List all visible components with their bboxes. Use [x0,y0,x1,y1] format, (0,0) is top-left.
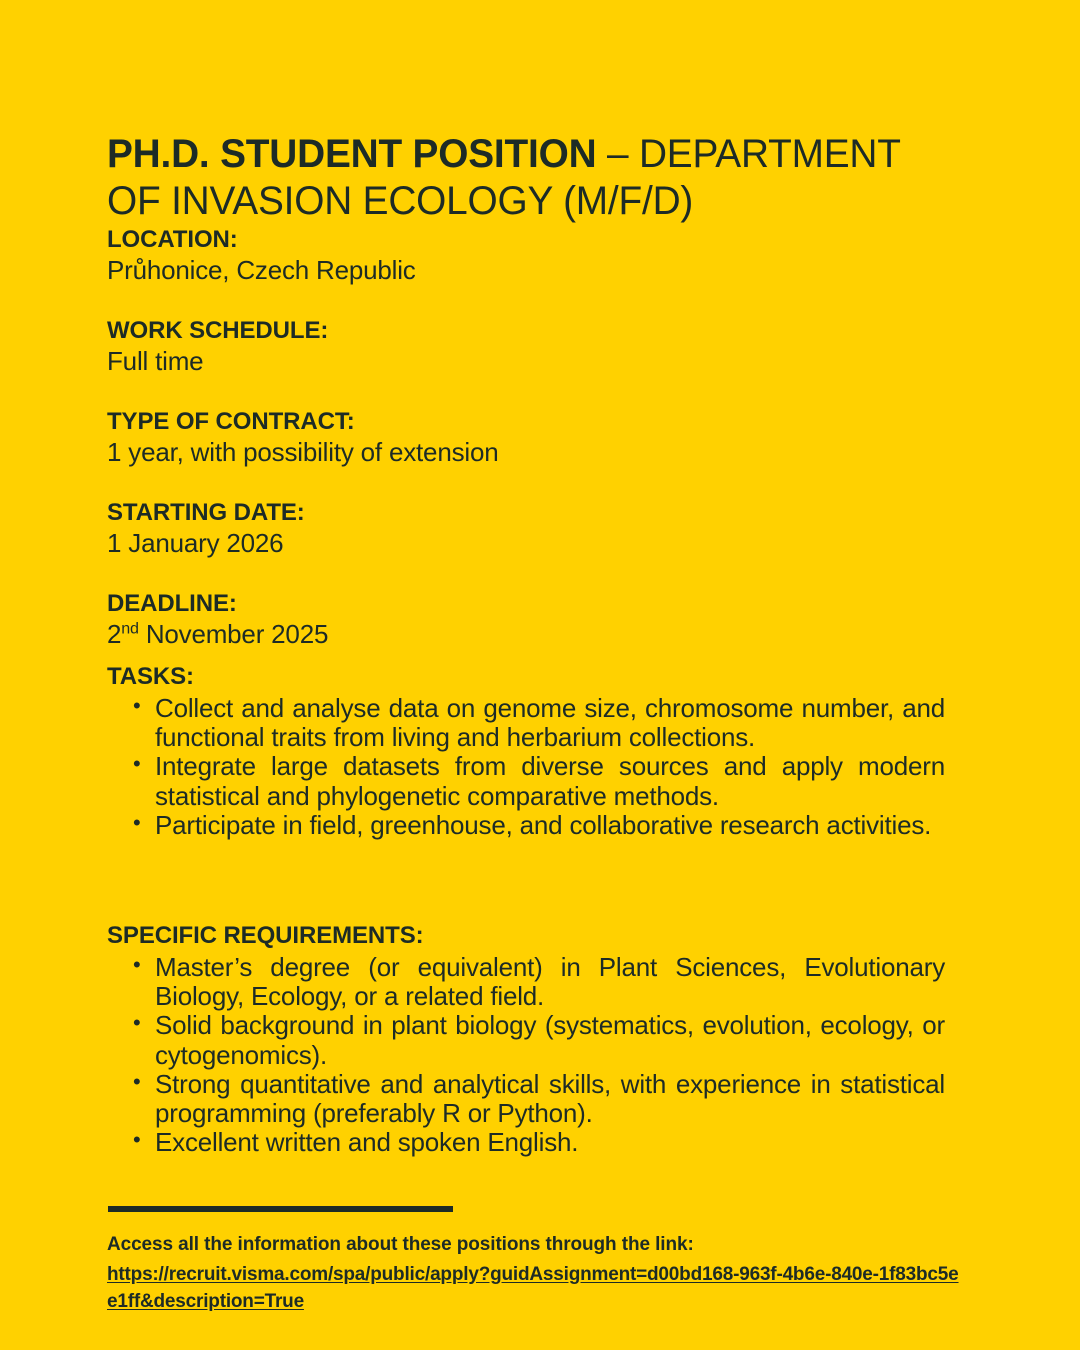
list-item: Master’s degree (or equivalent) in Plant… [155,953,945,1012]
list-item: Strong quantitative and analytical skill… [155,1070,945,1129]
field-location: LOCATION: Průhonice, Czech Republic [107,225,945,287]
field-starting-date: STARTING DATE: 1 January 2026 [107,498,945,560]
list-item-text: Solid background in plant biology (syste… [155,1011,945,1070]
field-value: 1 January 2026 [107,528,945,560]
field-type-of-contract: TYPE OF CONTRACT: 1 year, with possibili… [107,407,945,469]
list-item: Solid background in plant biology (syste… [155,1011,945,1070]
field-label: TYPE OF CONTRACT: [107,407,945,437]
list-item: Excellent written and spoken English. [155,1128,945,1157]
field-value: Full time [107,346,945,378]
section-specific-requirements: SPECIFIC REQUIREMENTS: Master’s degree (… [107,922,945,1158]
deadline-rest: November 2025 [139,619,328,649]
field-deadline: DEADLINE: 2nd November 2025 [107,589,945,651]
list-item: Participate in field, greenhouse, and co… [155,811,945,840]
field-label: WORK SCHEDULE: [107,316,945,346]
list-item-text: Collect and analyse data on genome size,… [155,694,945,753]
field-label: DEADLINE: [107,589,945,619]
list-item: Integrate large datasets from diverse so… [155,752,945,811]
page-title: PH.D. STUDENT POSITION – DEPARTMENT OF I… [107,131,949,225]
section-tasks: TASKS: Collect and analyse data on genom… [107,663,945,840]
footer-lead-text: Access all the information about these p… [107,1232,967,1258]
list-item-text: Participate in field, greenhouse, and co… [155,811,945,840]
field-list: LOCATION: Průhonice, Czech Republic WORK… [107,225,945,651]
field-label: STARTING DATE: [107,498,945,528]
field-value: Průhonice, Czech Republic [107,255,945,287]
list-item-text: Strong quantitative and analytical skill… [155,1070,945,1129]
list-item-text: Integrate large datasets from diverse so… [155,752,945,811]
tasks-list: Collect and analyse data on genome size,… [107,694,945,840]
deadline-ordinal: nd [121,619,139,637]
flyer-page: PH.D. STUDENT POSITION – DEPARTMENT OF I… [107,0,945,1350]
list-item: Collect and analyse data on genome size,… [155,694,945,753]
section-label: TASKS: [107,663,945,692]
requirements-list: Master’s degree (or equivalent) in Plant… [107,953,945,1158]
field-label: LOCATION: [107,225,945,255]
list-item-text: Master’s degree (or equivalent) in Plant… [155,953,945,1012]
field-work-schedule: WORK SCHEDULE: Full time [107,316,945,378]
footer: Access all the information about these p… [107,1232,967,1316]
deadline-day: 2 [107,619,121,649]
application-link[interactable]: https://recruit.visma.com/spa/public/app… [107,1261,967,1316]
field-value: 1 year, with possibility of extension [107,437,945,469]
field-value: 2nd November 2025 [107,619,945,651]
list-item-text: Excellent written and spoken English. [155,1128,945,1157]
page-title-strong: PH.D. STUDENT POSITION [107,132,596,176]
footer-divider [108,1206,453,1212]
section-label: SPECIFIC REQUIREMENTS: [107,922,945,951]
